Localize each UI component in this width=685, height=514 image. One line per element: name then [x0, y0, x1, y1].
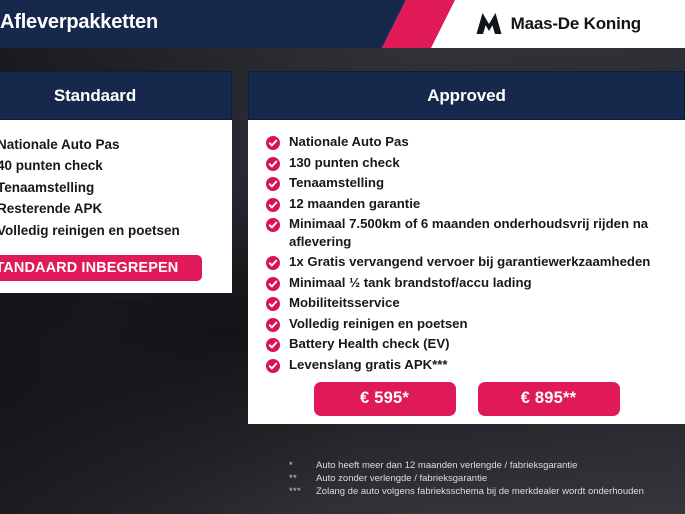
feature-label: 1x Gratis vervangend vervoer bij garanti… [289, 253, 650, 271]
footnote-text: Auto heeft meer dan 12 maanden verlengde… [316, 460, 577, 472]
check-circle-icon [266, 318, 280, 332]
feature-label: Tenaamstelling [289, 174, 384, 192]
feature-label: Levenslang gratis APK*** [289, 356, 448, 374]
list-item: Tenaamstelling [0, 179, 232, 196]
approved-card-heading: Approved [248, 71, 685, 120]
feature-label: Tenaamstelling [0, 179, 94, 196]
check-circle-icon [266, 136, 280, 150]
price-button-895[interactable]: € 895** [478, 382, 620, 416]
approved-card-body: Nationale Auto Pas 130 punten check Tena… [248, 120, 685, 424]
list-item: Resterende APK [0, 200, 232, 217]
list-item: Nationale Auto Pas [0, 136, 232, 153]
footnotes-block: * Auto heeft meer dan 12 maanden verleng… [289, 460, 644, 499]
standaard-feature-list: Nationale Auto Pas 40 punten check Tenaa… [0, 136, 232, 239]
feature-label: Nationale Auto Pas [0, 136, 120, 153]
list-item: Battery Health check (EV) [266, 335, 685, 353]
check-circle-icon [266, 338, 280, 352]
check-circle-icon [266, 157, 280, 171]
list-item: 1x Gratis vervangend vervoer bij garanti… [266, 253, 685, 271]
list-item: Minimaal ½ tank brandstof/accu lading [266, 274, 685, 292]
footnote-marker: * [289, 460, 316, 472]
check-circle-icon [266, 198, 280, 212]
feature-label: Volledig reinigen en poetsen [289, 315, 468, 333]
list-item: Tenaamstelling [266, 174, 685, 192]
footnote-marker: ** [289, 473, 316, 485]
feature-label: 130 punten check [289, 154, 400, 172]
check-circle-icon [266, 359, 280, 373]
maas-de-koning-m-icon [476, 12, 502, 35]
footnote-row: ** Auto zonder verlengde / fabrieksgaran… [289, 473, 644, 485]
price-button-595[interactable]: € 595* [314, 382, 456, 416]
feature-label: Battery Health check (EV) [289, 335, 450, 353]
feature-label: Volledig reinigen en poetsen [0, 222, 180, 239]
list-item: Minimaal 7.500km of 6 maanden onderhouds… [266, 215, 685, 250]
feature-label: 12 maanden garantie [289, 195, 420, 213]
list-item: Volledig reinigen en poetsen [0, 222, 232, 239]
list-item: Volledig reinigen en poetsen [266, 315, 685, 333]
footnote-marker: *** [289, 486, 316, 498]
list-item: 40 punten check [0, 157, 232, 174]
standaard-card-body: Nationale Auto Pas 40 punten check Tenaa… [0, 120, 232, 293]
feature-label: Minimaal ½ tank brandstof/accu lading [289, 274, 532, 292]
footnote-text: Zolang de auto volgens fabrieksschema bi… [316, 486, 644, 498]
price-button-row: € 595* € 895** [248, 382, 685, 416]
standaard-card: Standaard Nationale Auto Pas 40 punten c… [0, 71, 232, 293]
page-header: Afleverpakketten Maas-De Koning [0, 0, 685, 48]
list-item: 12 maanden garantie [266, 195, 685, 213]
feature-label: 40 punten check [0, 157, 103, 174]
check-circle-icon [266, 277, 280, 291]
feature-label: Mobiliteitsservice [289, 294, 400, 312]
standaard-card-heading: Standaard [0, 71, 232, 120]
afleverpakketten-screen: Afleverpakketten Maas-De Koning Standaar… [0, 0, 685, 514]
check-circle-icon [266, 177, 280, 191]
brand-logo: Maas-De Koning [476, 12, 641, 35]
approved-card: Approved Nationale Auto Pas 130 punten c… [248, 71, 685, 424]
footnote-row: *** Zolang de auto volgens fabrieksschem… [289, 486, 644, 498]
list-item: 130 punten check [266, 154, 685, 172]
approved-feature-list: Nationale Auto Pas 130 punten check Tena… [266, 133, 685, 374]
check-circle-icon [266, 297, 280, 311]
brand-name: Maas-De Koning [511, 14, 641, 34]
list-item: Nationale Auto Pas [266, 133, 685, 151]
footnote-row: * Auto heeft meer dan 12 maanden verleng… [289, 460, 644, 472]
check-circle-icon [266, 218, 280, 232]
standaard-included-button[interactable]: STANDAARD INBEGREPEN [0, 253, 204, 283]
footnote-text: Auto zonder verlengde / fabrieksgarantie [316, 473, 487, 485]
feature-label: Minimaal 7.500km of 6 maanden onderhouds… [289, 215, 649, 250]
feature-label: Nationale Auto Pas [289, 133, 409, 151]
check-circle-icon [266, 256, 280, 270]
page-title: Afleverpakketten [0, 11, 158, 34]
list-item: Mobiliteitsservice [266, 294, 685, 312]
feature-label: Resterende APK [0, 200, 102, 217]
list-item: Levenslang gratis APK*** [266, 356, 685, 374]
